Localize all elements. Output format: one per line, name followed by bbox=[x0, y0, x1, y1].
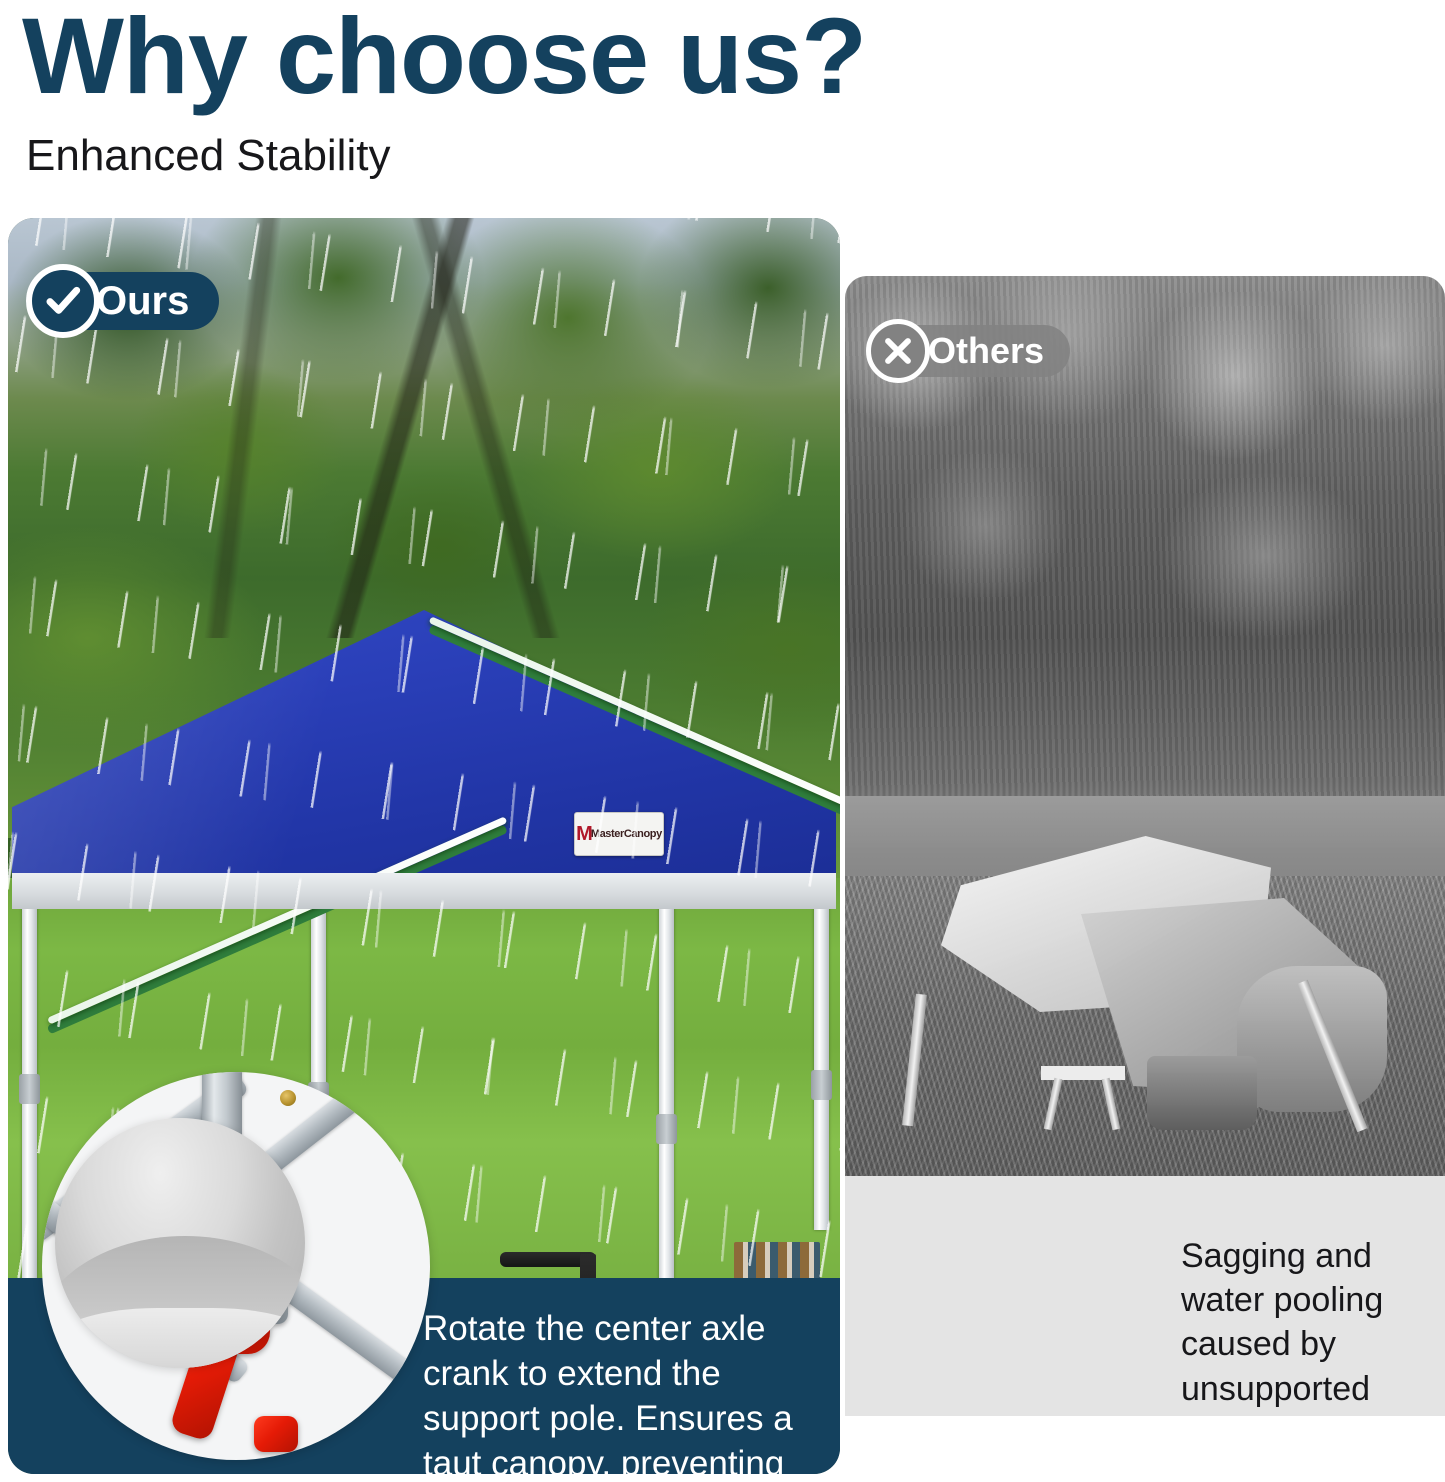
others-badge[interactable]: Others bbox=[866, 325, 1070, 377]
logo-wordmark: MasterCanopy bbox=[591, 829, 662, 840]
ours-badge[interactable]: Ours bbox=[26, 272, 219, 330]
canopy-leg-right bbox=[814, 894, 829, 1230]
leg-clamp bbox=[19, 1074, 40, 1104]
leg-clamp bbox=[656, 1114, 677, 1144]
x-circle-icon bbox=[866, 319, 930, 383]
canopy-trim-right bbox=[428, 624, 840, 834]
sagging-fabric-skirt bbox=[55, 1308, 305, 1368]
red-crank-tip bbox=[254, 1416, 298, 1452]
collapsed-canopy-fold bbox=[1237, 966, 1387, 1112]
leg-clamp bbox=[811, 1070, 832, 1100]
canopy-leg-left bbox=[22, 906, 37, 1278]
blue-canopy-roof bbox=[12, 610, 836, 900]
check-circle-icon bbox=[26, 264, 100, 338]
ours-caption-text: Rotate the center axle crank to extend t… bbox=[423, 1306, 823, 1474]
canopy-valance bbox=[12, 873, 836, 909]
others-panel: Sagging and water pooling caused by unsu… bbox=[845, 276, 1445, 1416]
chair-right-back bbox=[580, 1254, 596, 1278]
upper-screw bbox=[280, 1090, 296, 1106]
sagging-top-inset bbox=[55, 1118, 305, 1368]
canopy-ridges bbox=[12, 610, 836, 900]
mastercanopy-logo: M MasterCanopy bbox=[574, 812, 664, 856]
others-caption-text: Sagging and water pooling caused by unsu… bbox=[1181, 1234, 1429, 1416]
others-caption-bar: Sagging and water pooling caused by unsu… bbox=[845, 1176, 1445, 1416]
camp-chair bbox=[1147, 1056, 1257, 1130]
canopy-leg-center bbox=[659, 886, 674, 1278]
cabinet-books bbox=[734, 1242, 820, 1278]
logo-initial: M bbox=[576, 824, 592, 844]
others-scene-photo bbox=[845, 276, 1445, 1176]
others-badge-label: Others bbox=[928, 333, 1044, 369]
ours-badge-label: Ours bbox=[96, 281, 189, 321]
comparison-area: M MasterCanopy Rotate the center axle cr… bbox=[0, 0, 1445, 1482]
